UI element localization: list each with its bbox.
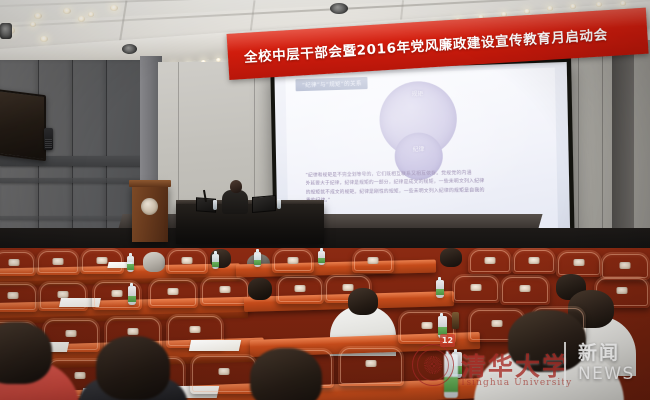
- water-bottle: [436, 280, 444, 298]
- slide-title: “纪律”与“规矩”的关系: [296, 77, 368, 91]
- downlight: [63, 8, 71, 14]
- seat-number-plate: [422, 322, 433, 329]
- seat: [468, 248, 512, 274]
- seat: [148, 278, 198, 308]
- seat: [500, 275, 550, 305]
- seated-speaker-head: [230, 180, 242, 193]
- podium-emblem-icon: [141, 198, 158, 215]
- downlight: [547, 6, 553, 11]
- right-wall-dark-panel: [612, 50, 634, 240]
- seat-number-plate: [128, 328, 139, 335]
- audience-head: [348, 288, 378, 315]
- seated-speaker-torso: [222, 190, 248, 214]
- seat: [352, 248, 394, 273]
- seat: [166, 248, 208, 274]
- slide-body: “纪律和规矩是不完全划等号的，它们既相互联系又相互依存。党规党的内涵 外延要大于…: [305, 168, 543, 206]
- thermos-flask: [452, 312, 459, 329]
- seat: [272, 248, 314, 273]
- ceiling-speaker-icon: [0, 23, 12, 39]
- downlight: [110, 5, 118, 11]
- water-bottle: [254, 252, 261, 267]
- seat: [200, 276, 250, 306]
- seat-number-plate: [75, 372, 86, 379]
- seat-number-plate: [53, 258, 64, 265]
- downlight: [30, 22, 36, 27]
- ceiling-speaker-icon: [122, 44, 137, 54]
- seat: [338, 346, 404, 386]
- audience-seating: [0, 248, 650, 400]
- downlight: [40, 36, 48, 42]
- seat-number-plate: [8, 292, 19, 299]
- conference-photo: “纪律”与“规矩”的关系 规矩 纪律 “纪律和规矩是不完全划等号的，它们既相互联…: [0, 0, 650, 400]
- wall-monitor: [0, 89, 46, 161]
- seat-number-plate: [219, 368, 230, 375]
- seat: [556, 250, 602, 277]
- water-bottle: [318, 251, 325, 265]
- seat: [0, 250, 36, 276]
- seat: [190, 354, 258, 394]
- audience-head: [440, 248, 462, 267]
- seat: [36, 249, 80, 275]
- seat-number-plate: [168, 288, 179, 295]
- seat-number-plate: [492, 320, 503, 327]
- seat-number-plate: [529, 257, 540, 264]
- laptop-right: [252, 195, 276, 213]
- audience-head: [250, 348, 322, 400]
- downlight: [570, 4, 576, 9]
- downlight: [596, 2, 602, 7]
- downlight: [88, 12, 94, 17]
- diagram-outer-label: 规矩: [412, 89, 424, 98]
- downlight: [524, 9, 530, 14]
- seat-number-plate: [9, 259, 20, 266]
- water-bottle: [438, 316, 447, 338]
- seat-number-plate: [190, 326, 201, 333]
- seat-number-plate: [617, 287, 628, 294]
- seat-number-plate: [66, 330, 77, 337]
- seat-number-plate: [471, 284, 482, 291]
- seat-number-plate: [620, 262, 631, 269]
- seat: [80, 248, 124, 274]
- audience-head: [0, 322, 52, 384]
- downlight: [620, 1, 626, 6]
- diagram-inner-label: 纪律: [413, 145, 425, 153]
- water-bottle: [444, 354, 458, 398]
- seat-number-plate: [343, 284, 354, 291]
- table-bottle: [277, 199, 281, 209]
- audience-head: [143, 252, 165, 272]
- presentation-slide: “纪律”与“规矩”的关系 规矩 纪律 “纪律和规矩是不完全划等号的，它们既相互联…: [286, 68, 558, 232]
- seat: [0, 282, 38, 312]
- podium: [132, 184, 168, 242]
- seat-number-plate: [97, 257, 108, 264]
- seat: [512, 248, 556, 274]
- ceiling-speaker-icon: [330, 3, 348, 14]
- seat: [276, 275, 324, 304]
- seat-number-plate: [574, 259, 585, 266]
- seat-number-plate: [485, 257, 496, 264]
- seat-number-plate: [366, 360, 377, 367]
- seat: [398, 310, 456, 344]
- downlight: [34, 13, 42, 19]
- seat-number-plate: [520, 285, 531, 292]
- seat-number-plate: [288, 257, 299, 264]
- audience-head: [248, 278, 272, 300]
- table-bottle: [213, 200, 217, 210]
- water-bottle: [127, 256, 134, 272]
- seat: [452, 274, 500, 303]
- seat-number-plate: [220, 286, 231, 293]
- water-bottle: [212, 254, 219, 269]
- seat-number-plate: [368, 257, 379, 264]
- seat-number-plate: [182, 257, 193, 264]
- seat-number-plate: [112, 290, 123, 297]
- water-bottle: [128, 286, 136, 305]
- audience-head: [96, 336, 170, 400]
- document-paper: [189, 340, 241, 351]
- downlight: [78, 16, 85, 22]
- wall-speaker-icon: [44, 128, 53, 150]
- audience-head: [508, 310, 586, 372]
- seat-number-plate: [295, 285, 306, 292]
